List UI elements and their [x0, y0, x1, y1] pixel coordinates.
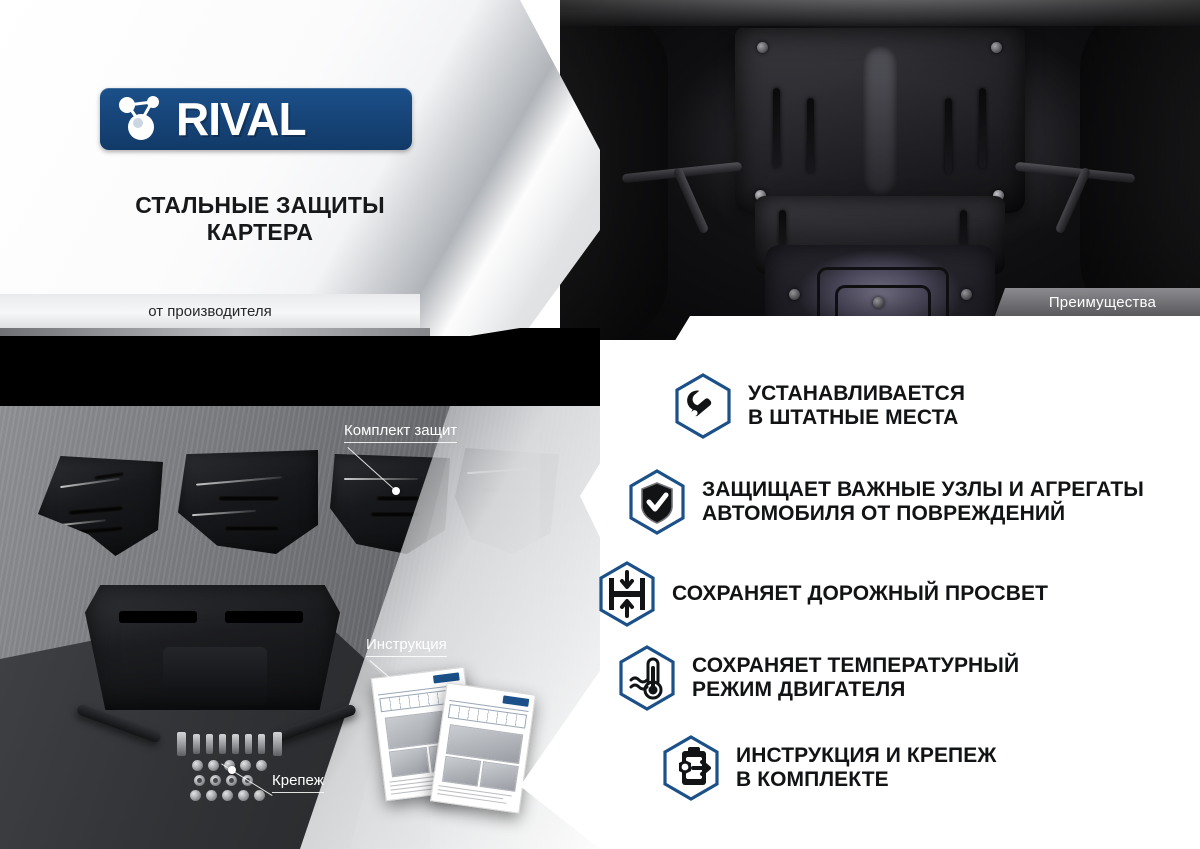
feature-item-instruction-and-hardware-included[interactable]: ИНСТРУКЦИЯ И КРЕПЕЖ В КОМПЛЕКТЕ — [660, 734, 996, 802]
skid-plate-2 — [178, 450, 318, 554]
page-title-line2: КАРТЕРА — [0, 219, 520, 246]
main-skid-plate — [85, 585, 340, 710]
feature-line1: СОХРАНЯЕТ ТЕМПЕРАТУРНЫЙ — [692, 654, 1019, 678]
feature-line1: УСТАНАВЛИВАЕТСЯ — [748, 382, 965, 406]
feature-text: СОХРАНЯЕТ ДОРОЖНЫЙ ПРОСВЕТ — [672, 582, 1048, 606]
tab-advantages-label: Преимущества — [1049, 294, 1156, 311]
feature-line1: СОХРАНЯЕТ ДОРОЖНЫЙ ПРОСВЕТ — [672, 582, 1048, 606]
subtitle-text: от производителя — [148, 303, 271, 320]
thermometer-icon — [616, 644, 678, 712]
callout-instruction: Инструкция — [366, 636, 447, 657]
feature-item-protects-components[interactable]: ЗАЩИЩАЕТ ВАЖНЫЕ УЗЛЫ И АГРЕГАТЫ АВТОМОБИ… — [626, 468, 1144, 536]
callout-fasteners: Крепеж — [272, 772, 324, 793]
brand-name: RIVAL — [176, 96, 306, 142]
callout-plate-set-label: Комплект защит — [344, 422, 457, 439]
leader-dot-fasteners — [228, 766, 236, 774]
feature-line2: В КОМПЛЕКТЕ — [736, 768, 996, 792]
clipboard-bolt-icon — [660, 734, 722, 802]
feature-line2: РЕЖИМ ДВИГАТЕЛЯ — [692, 678, 1019, 702]
brand-logo[interactable]: RIVAL — [100, 88, 412, 150]
callout-instruction-label: Инструкция — [366, 636, 447, 653]
feature-text: СОХРАНЯЕТ ТЕМПЕРАТУРНЫЙ РЕЖИМ ДВИГАТЕЛЯ — [692, 654, 1019, 702]
feature-line2: В ШТАТНЫЕ МЕСТА — [748, 406, 965, 430]
feature-text: ЗАЩИЩАЕТ ВАЖНЫЕ УЗЛЫ И АГРЕГАТЫ АВТОМОБИ… — [702, 478, 1144, 526]
feature-text: ИНСТРУКЦИЯ И КРЕПЕЖ В КОМПЛЕКТЕ — [736, 744, 996, 792]
callout-fasteners-label: Крепеж — [272, 772, 324, 789]
shield-check-icon — [626, 468, 688, 536]
page-title-line1: СТАЛЬНЫЕ ЗАЩИТЫ — [0, 192, 520, 219]
header-divider — [0, 328, 430, 337]
tab-advantages[interactable]: Преимущества — [995, 288, 1200, 316]
feature-line1: ЗАЩИЩАЕТ ВАЖНЫЕ УЗЛЫ И АГРЕГАТЫ — [702, 478, 1144, 502]
wrench-icon — [672, 372, 734, 440]
skid-plate-1 — [38, 456, 163, 556]
feature-item-installs-in-factory-points[interactable]: УСТАНАВЛИВАЕТСЯ В ШТАТНЫЕ МЕСТА — [672, 372, 965, 440]
poster-root: Преимущества RIVAL СТАЛЬНЫЕ ЗАЩИТЫ КАРТЕ… — [0, 0, 1200, 849]
page-title: СТАЛЬНЫЕ ЗАЩИТЫ КАРТЕРА — [0, 192, 520, 246]
feature-item-keeps-engine-temperature[interactable]: СОХРАНЯЕТ ТЕМПЕРАТУРНЫЙ РЕЖИМ ДВИГАТЕЛЯ — [616, 644, 1019, 712]
feature-item-keeps-ground-clearance[interactable]: СОХРАНЯЕТ ДОРОЖНЫЙ ПРОСВЕТ — [596, 560, 1048, 628]
feature-line2: АВТОМОБИЛЯ ОТ ПОВРЕЖДЕНИЙ — [702, 502, 1144, 526]
header-panel — [0, 0, 600, 340]
leader-dot-plate-set — [392, 487, 400, 495]
ground-clearance-icon — [596, 560, 658, 628]
feature-line1: ИНСТРУКЦИЯ И КРЕПЕЖ — [736, 744, 996, 768]
feature-text: УСТАНАВЛИВАЕТСЯ В ШТАТНЫЕ МЕСТА — [748, 382, 965, 430]
callout-plate-set: Комплект защит — [344, 422, 457, 443]
instruction-sheet-front — [430, 682, 536, 813]
subtitle-strip: от производителя — [0, 294, 420, 328]
molecule-icon — [112, 93, 174, 145]
black-wedge — [0, 328, 600, 408]
